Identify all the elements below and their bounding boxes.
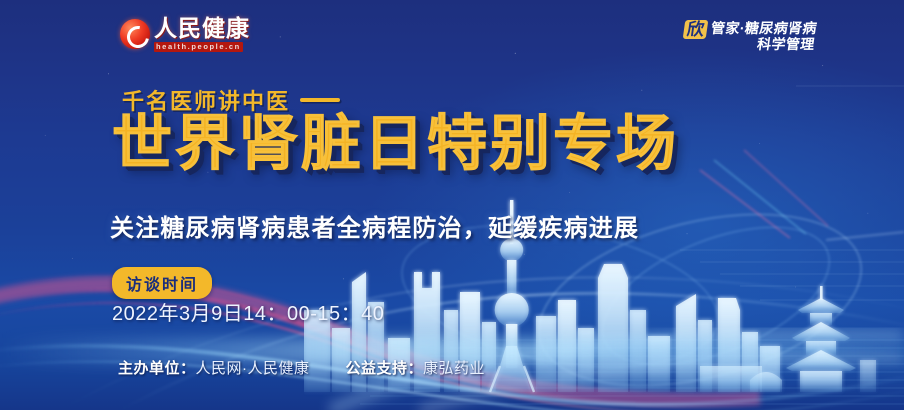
event-poster: 人民健康 health.people.cn 欣 管家·糖尿病肾病 科学管理 千名… xyxy=(0,0,904,410)
site-logo[interactable]: 人民健康 health.people.cn xyxy=(120,17,250,52)
credits-row: 主办单位： 人民网·人民健康 公益支持： 康弘药业 xyxy=(118,357,485,378)
eyebrow-dash-icon xyxy=(300,98,340,102)
sponsor-brand-badge: 欣 管家·糖尿病肾病 科学管理 xyxy=(684,20,816,52)
sponsor-badge-line2: 科学管理 xyxy=(708,36,816,52)
light-ribbon-streaks xyxy=(0,0,904,410)
starfield-speckles xyxy=(0,0,904,410)
interview-time-label: 访谈时间 xyxy=(112,267,212,299)
credit-organizer-value: 人民网·人民健康 xyxy=(196,357,310,378)
pagoda-building xyxy=(786,286,856,392)
sponsor-badge-lines: 管家·糖尿病肾病 科学管理 xyxy=(708,20,818,52)
credit-supporter: 公益支持： 康弘药业 xyxy=(346,357,486,378)
sponsor-badge-mark: 欣 xyxy=(683,20,709,39)
interview-time-value: 2022年3月9日14：00-15：40 xyxy=(112,297,384,326)
credit-supporter-label: 公益支持： xyxy=(346,357,424,378)
site-logo-text: 人民健康 health.people.cn xyxy=(154,17,250,52)
site-logo-name-en: health.people.cn xyxy=(154,42,243,52)
site-logo-name-cn: 人民健康 xyxy=(154,17,250,40)
page-title: 世界肾脏日特别专场 xyxy=(112,112,679,175)
credit-supporter-value: 康弘药业 xyxy=(423,357,485,378)
credit-organizer: 主办单位： 人民网·人民健康 xyxy=(118,357,310,378)
sponsor-badge-line1: 管家·糖尿病肾病 xyxy=(710,20,818,36)
people-health-logo-icon xyxy=(120,19,150,49)
page-subtitle: 关注糖尿病肾病患者全病程防治，延缓疾病进展 xyxy=(110,208,639,243)
credit-organizer-label: 主办单位： xyxy=(118,357,196,378)
